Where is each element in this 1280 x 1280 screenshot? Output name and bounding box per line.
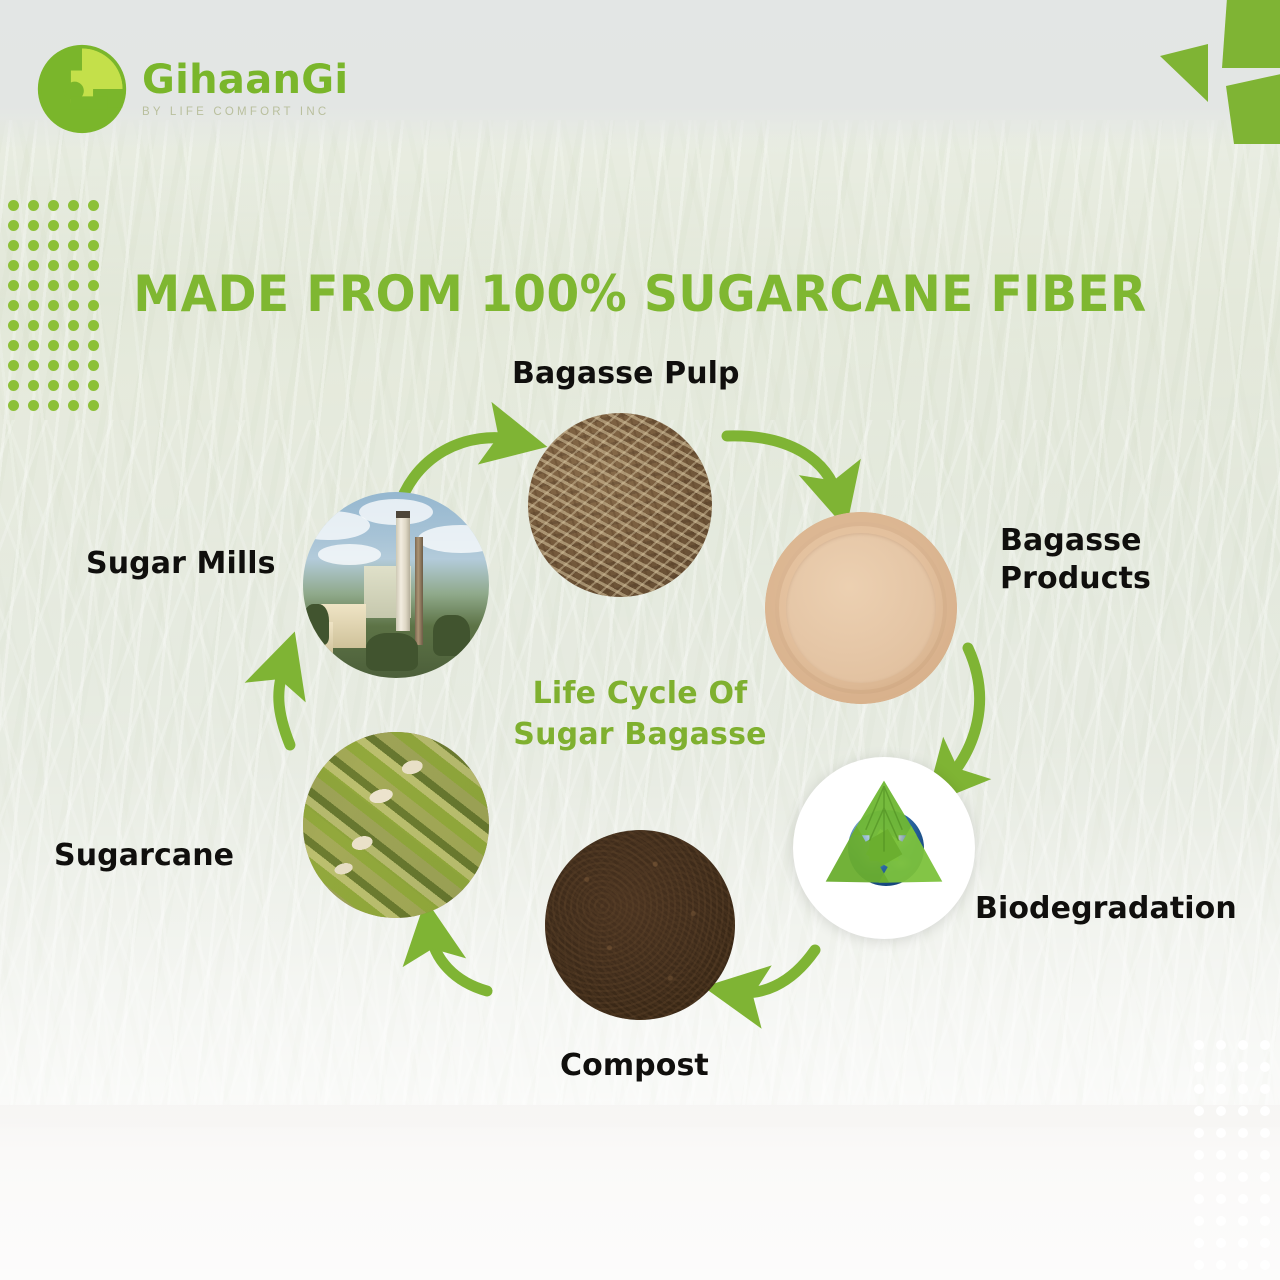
recycle-leaves-icon — [793, 757, 975, 939]
node-bagasse-pulp-image[interactable] — [528, 413, 712, 597]
label-bagasse-products-line1: Bagasse — [1000, 522, 1151, 560]
sugarcane-stalks-photo — [303, 732, 489, 918]
label-bagasse-products: Bagasse Products — [1000, 522, 1151, 598]
arrow-pulp-to-products — [727, 436, 838, 498]
plate-inner-well — [786, 533, 936, 683]
label-bagasse-pulp: Bagasse Pulp — [512, 355, 740, 393]
label-bagasse-products-line2: Products — [1000, 560, 1151, 598]
compost-soil-photo — [545, 830, 735, 1020]
infographic-canvas: GihaanGi BY LIFE COMFORT INC MADE FROM 1… — [0, 0, 1280, 1280]
cycle-center-title-line2: Sugar Bagasse — [480, 714, 800, 755]
label-biodegradation: Biodegradation — [975, 890, 1237, 928]
arrow-biodegradation-to-compost — [735, 950, 815, 993]
node-sugar-mills-image[interactable] — [303, 492, 489, 678]
node-compost-image[interactable] — [545, 830, 735, 1020]
cycle-center-title-line1: Life Cycle Of — [480, 673, 800, 714]
label-sugarcane: Sugarcane — [54, 837, 234, 875]
cycle-center-title: Life Cycle Of Sugar Bagasse — [480, 673, 800, 756]
sugar-mill-factory-photo — [303, 492, 489, 678]
node-sugarcane-image[interactable] — [303, 732, 489, 918]
arrow-compost-to-sugarcane — [430, 931, 487, 991]
bagasse-pulp-fiber-photo — [528, 413, 712, 597]
label-compost: Compost — [560, 1047, 709, 1085]
node-biodegradation-image[interactable] — [793, 757, 975, 939]
label-sugar-mills: Sugar Mills — [86, 545, 276, 583]
cycle-arrows — [0, 0, 1280, 1280]
arrow-sugarcane-to-mills — [279, 662, 290, 745]
